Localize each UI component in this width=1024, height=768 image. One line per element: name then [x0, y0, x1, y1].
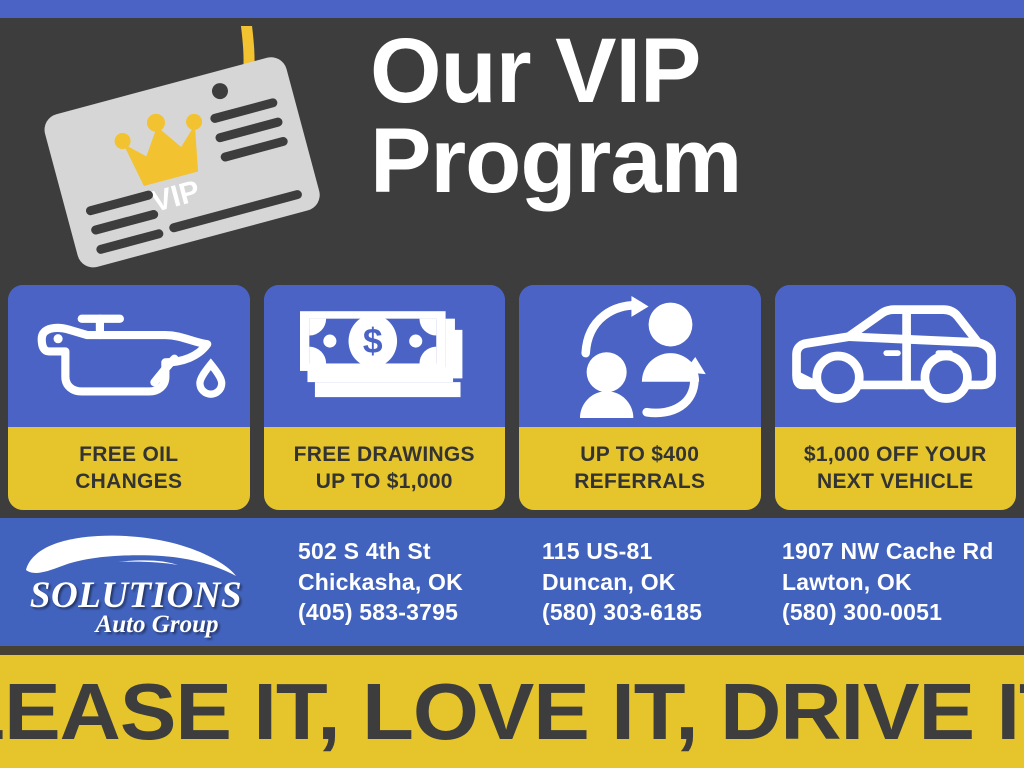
location-city: Chickasha, OK — [298, 567, 538, 597]
top-accent-strip — [0, 0, 1024, 18]
benefit-card-next-vehicle[interactable]: $1,000 OFF YOUR NEXT VEHICLE — [775, 285, 1017, 510]
location-street: 115 US-81 — [542, 536, 777, 566]
front-banknote: $ — [300, 311, 446, 371]
benefits-row: FREE OIL CHANGES — [8, 285, 1016, 510]
contact-bar: SOLUTIONS Auto Group 502 S 4th St Chicka… — [0, 518, 1024, 646]
referral-icon — [519, 285, 761, 427]
benefit-card-label: $1,000 OFF YOUR NEXT VEHICLE — [775, 427, 1017, 510]
location-item[interactable]: 115 US-81 Duncan, OK (580) 303-6185 — [538, 536, 777, 627]
brand-subtitle: Auto Group — [52, 611, 262, 639]
vip-program-poster: VIP Our VIP Program — [0, 0, 1024, 768]
benefit-card-referrals[interactable]: UP TO $400 REFERRALS — [519, 285, 761, 510]
location-city: Lawton, OK — [782, 567, 1024, 597]
benefit-card-label: UP TO $400 REFERRALS — [519, 427, 761, 510]
money-icon: $ — [264, 285, 506, 427]
vip-card-illustration: VIP — [30, 26, 330, 276]
car-swoosh-logo — [22, 532, 248, 580]
tagline-banner: LEASE IT, LOVE IT, DRIVE IT — [0, 655, 1024, 768]
car-icon — [775, 285, 1017, 427]
brand-logo[interactable]: SOLUTIONS Auto Group — [0, 518, 270, 646]
page-title: Our VIP Program — [370, 26, 990, 206]
tagline-divider — [0, 646, 1024, 655]
svg-text:$: $ — [363, 321, 383, 361]
location-phone[interactable]: (405) 583-3795 — [298, 597, 538, 627]
locations-list: 502 S 4th St Chickasha, OK (405) 583-379… — [270, 518, 1024, 646]
oil-can-icon — [8, 285, 250, 427]
benefit-card-free-drawings[interactable]: $ FREE DRAWINGS UP TO $1,000 — [264, 285, 506, 510]
location-phone[interactable]: (580) 300-0051 — [782, 597, 1024, 627]
location-city: Duncan, OK — [542, 567, 777, 597]
location-street: 1907 NW Cache Rd — [782, 536, 1024, 566]
benefit-card-free-oil-changes[interactable]: FREE OIL CHANGES — [8, 285, 250, 510]
location-street: 502 S 4th St — [298, 536, 538, 566]
hero-section: VIP Our VIP Program — [0, 18, 1024, 282]
location-phone[interactable]: (580) 303-6185 — [542, 597, 777, 627]
location-item[interactable]: 1907 NW Cache Rd Lawton, OK (580) 300-00… — [777, 536, 1024, 627]
benefit-card-label: FREE OIL CHANGES — [8, 427, 250, 510]
tagline-text: LEASE IT, LOVE IT, DRIVE IT — [0, 672, 1024, 752]
benefit-card-label: FREE DRAWINGS UP TO $1,000 — [264, 427, 506, 510]
location-item[interactable]: 502 S 4th St Chickasha, OK (405) 583-379… — [270, 536, 538, 627]
